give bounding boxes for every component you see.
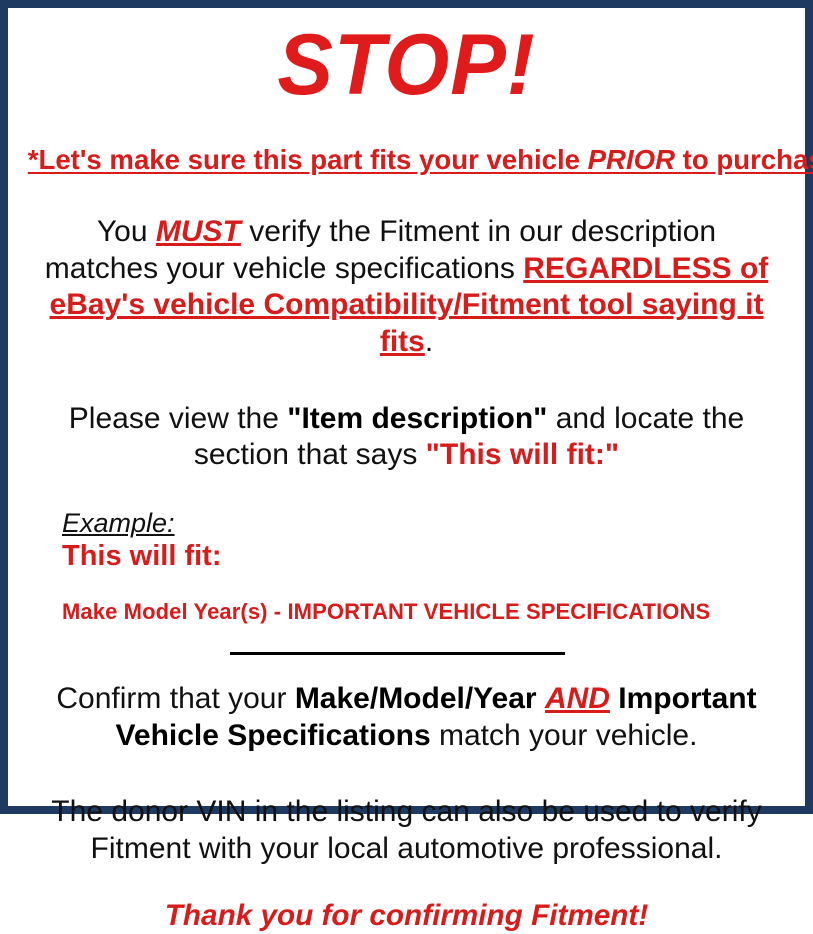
subtitle-emphasis-prior: PRIOR [588,144,675,175]
fitment-notice-panel: STOP! *Let's make sure this part fits yo… [0,0,813,814]
divider-rule [230,652,565,655]
p1-emphasis-must: MUST [156,215,241,248]
paragraph-item-description: Please view the "Item description" and l… [22,401,791,474]
p3-space-1 [537,682,545,715]
p3-emphasis-and: AND [545,682,610,715]
p2-emphasis-this-will-fit: "This will fit:" [426,438,619,471]
thank-you-line: Thank you for confirming Fitment! [26,898,787,934]
section-divider [22,649,791,659]
subtitle-suffix: to purchasing* [675,144,813,175]
example-block: Example: This will fit: Make Model Year(… [22,508,791,625]
p3-seg-5: match your vehicle. [431,719,698,752]
example-label: Example: [62,508,175,539]
p3-seg-1: Confirm that your [56,682,294,715]
paragraph-donor-vin: The donor VIN in the listing can also be… [22,794,791,867]
p2-emphasis-item-description: "Item description" [287,402,547,435]
paragraph-confirm: Confirm that your Make/Model/Year AND Im… [22,681,791,754]
p2-seg-1: Please view the [69,402,287,435]
p1-seg-1: You [97,215,156,248]
example-fit-heading: This will fit: [62,540,791,573]
subtitle-prefix: *Let's make sure this part fits your veh… [28,144,588,175]
example-spec-line: Make Model Year(s) - IMPORTANT VEHICLE S… [62,599,791,625]
p3-emphasis-make-model-year: Make/Model/Year [295,682,537,715]
paragraph-must-verify: You MUST verify the Fitment in our descr… [22,214,791,360]
subtitle-line: *Let's make sure this part fits your veh… [28,144,785,176]
stop-title: STOP! [34,22,780,108]
p1-seg-5: . [425,325,433,358]
